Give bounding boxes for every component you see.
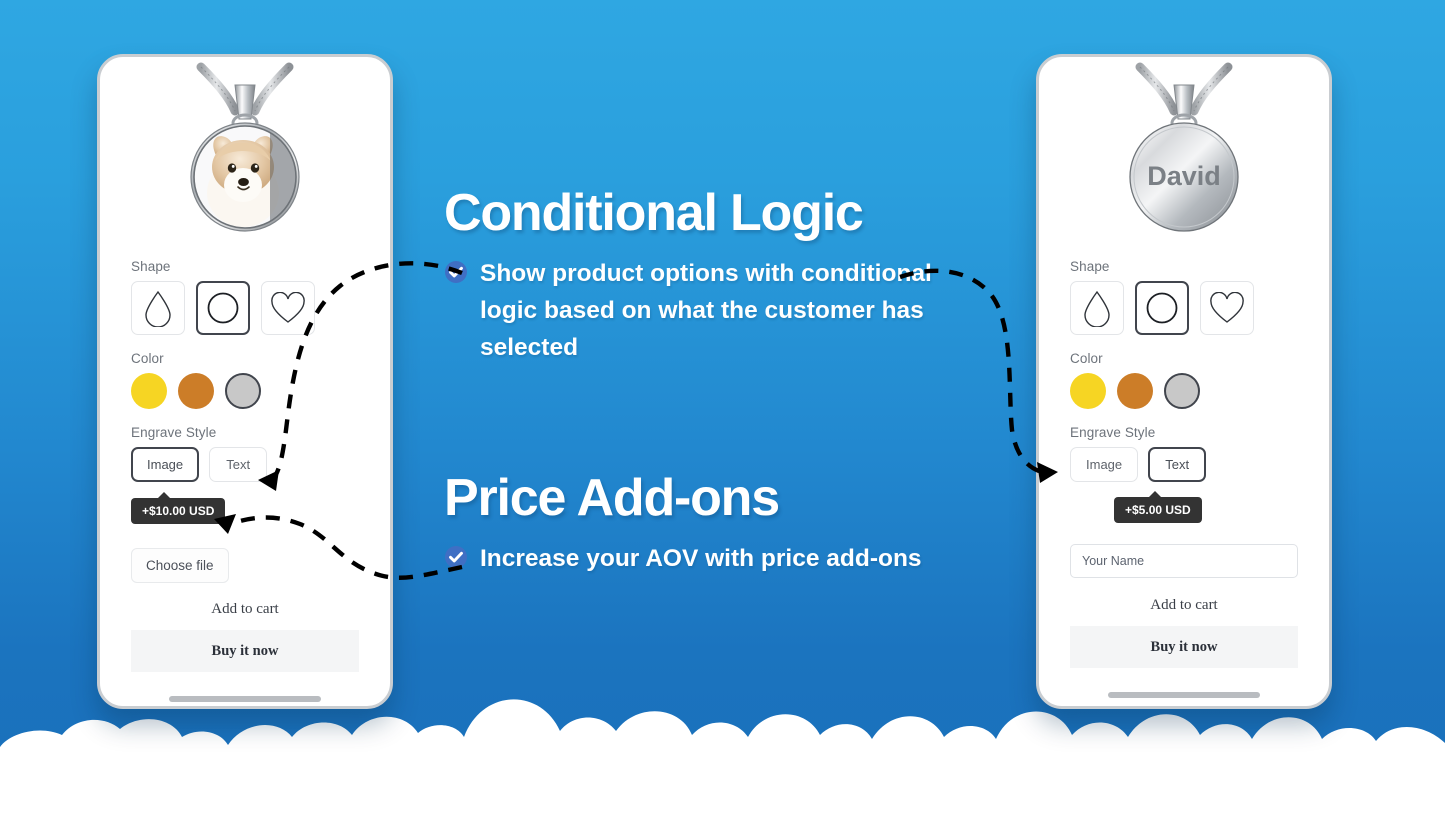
- engrave-style-options: Image Text: [1070, 447, 1298, 482]
- shape-option-circle[interactable]: [1135, 281, 1189, 335]
- product-page-screen: David Shape Color: [1039, 57, 1329, 706]
- color-swatch-bronze[interactable]: [1117, 373, 1153, 409]
- engrave-style-options: Image Text: [131, 447, 359, 482]
- conditional-logic-headline: Conditional Logic: [444, 186, 964, 241]
- option-label-shape: Shape: [131, 259, 359, 274]
- color-swatch-bronze[interactable]: [178, 373, 214, 409]
- shape-option-circle[interactable]: [196, 281, 250, 335]
- home-indicator-bar: [1108, 692, 1260, 698]
- shape-option-teardrop[interactable]: [131, 281, 185, 335]
- conditional-logic-bullet: Show product options with conditional lo…: [444, 255, 964, 367]
- engrave-style-image-button[interactable]: Image: [131, 447, 199, 482]
- option-group-color: Color: [1070, 351, 1298, 409]
- option-label-engrave-style: Engrave Style: [131, 425, 359, 440]
- add-to-cart-button[interactable]: Add to cart: [131, 601, 359, 618]
- color-options: [1070, 373, 1298, 409]
- buy-it-now-button[interactable]: Buy it now: [131, 630, 359, 672]
- price-addon-tooltip: +$10.00 USD: [131, 498, 225, 524]
- engraved-name-text: David: [1147, 161, 1221, 191]
- option-group-engrave-style: Engrave Style Image Text: [1070, 425, 1298, 482]
- pendant-preview-engraved: David: [1070, 57, 1298, 253]
- shape-option-heart[interactable]: [1200, 281, 1254, 335]
- shape-options: [1070, 281, 1298, 335]
- option-group-color: Color: [131, 351, 359, 409]
- engrave-style-text-button[interactable]: Text: [1148, 447, 1206, 482]
- shape-options: [131, 281, 359, 335]
- choose-file-button[interactable]: Choose file: [131, 548, 229, 583]
- option-label-color: Color: [1070, 351, 1298, 366]
- name-input-row: [1070, 544, 1298, 578]
- shape-option-teardrop[interactable]: [1070, 281, 1124, 335]
- product-page-screen: Shape Color Engrave Styl: [100, 57, 390, 706]
- pendant-preview-photo: [131, 57, 359, 253]
- phone-mockup-text-variant: David Shape Color: [1036, 54, 1332, 709]
- option-label-color: Color: [131, 351, 359, 366]
- buy-it-now-button[interactable]: Buy it now: [1070, 626, 1298, 668]
- option-group-engrave-style: Engrave Style Image Text: [131, 425, 359, 482]
- price-addons-bullet: Increase your AOV with price add-ons: [444, 540, 1004, 577]
- option-label-shape: Shape: [1070, 259, 1298, 274]
- add-to-cart-button[interactable]: Add to cart: [1070, 597, 1298, 614]
- color-swatch-gold[interactable]: [131, 373, 167, 409]
- color-swatch-silver[interactable]: [1164, 373, 1200, 409]
- engrave-style-text-button[interactable]: Text: [209, 447, 267, 482]
- shape-option-heart[interactable]: [261, 281, 315, 335]
- option-group-shape: Shape: [1070, 259, 1298, 335]
- check-circle-icon: [444, 260, 468, 289]
- phone-mockup-image-variant: Shape Color Engrave Styl: [97, 54, 393, 709]
- engrave-style-image-button[interactable]: Image: [1070, 447, 1138, 482]
- color-options: [131, 373, 359, 409]
- home-indicator-bar: [169, 696, 321, 702]
- file-upload-row: Choose file: [131, 548, 359, 583]
- conditional-logic-bullet-text: Show product options with conditional lo…: [480, 255, 964, 367]
- price-addons-block: Price Add-ons Increase your AOV with pri…: [444, 471, 1004, 577]
- check-circle-icon: [444, 545, 468, 574]
- your-name-input[interactable]: [1070, 544, 1298, 578]
- color-swatch-silver[interactable]: [225, 373, 261, 409]
- option-group-shape: Shape: [131, 259, 359, 335]
- option-label-engrave-style: Engrave Style: [1070, 425, 1298, 440]
- conditional-logic-block: Conditional Logic Show product options w…: [444, 186, 964, 366]
- price-addons-bullet-text: Increase your AOV with price add-ons: [480, 540, 922, 577]
- price-addons-headline: Price Add-ons: [444, 471, 1004, 526]
- price-addon-tooltip: +$5.00 USD: [1114, 497, 1202, 523]
- color-swatch-gold[interactable]: [1070, 373, 1106, 409]
